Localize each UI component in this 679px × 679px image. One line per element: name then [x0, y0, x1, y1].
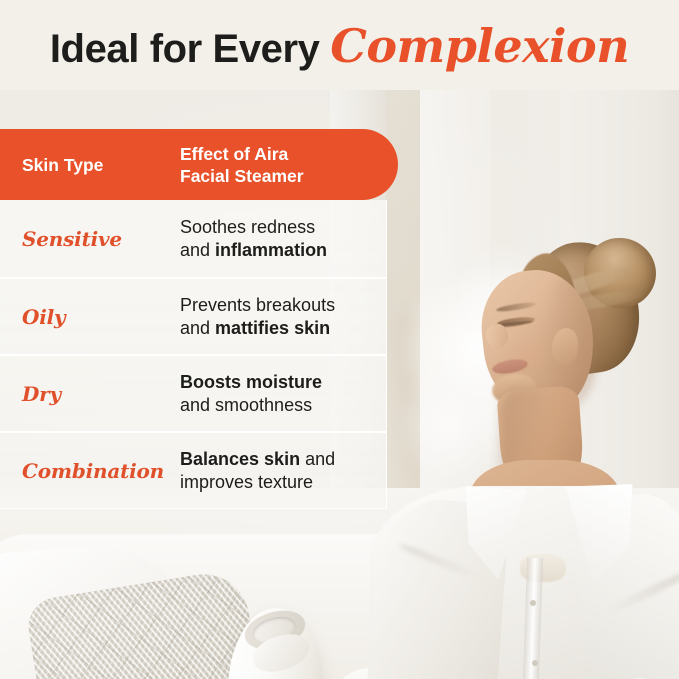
table-row: Dry Boosts moistureand smoothness	[0, 354, 386, 431]
effect-text-plain: Prevents breakouts	[180, 295, 335, 315]
table-row: Sensitive Soothes rednessand inflammatio…	[0, 200, 386, 277]
effect-text-plain: and	[180, 318, 215, 338]
effect-text-bold: Boosts moisture	[180, 372, 322, 392]
skin-type-table: Skin Type Effect of Aira Facial Steamer …	[0, 129, 386, 509]
effect-text-bold: mattifies skin	[215, 318, 330, 338]
cell-skin-type: Dry	[22, 382, 61, 406]
cell-effect: Boosts moistureand smoothness	[180, 371, 378, 417]
shirt-button	[532, 660, 538, 666]
column-header-skin-type: Skin Type	[22, 154, 103, 176]
cell-effect: Balances skin and improves texture	[180, 448, 378, 494]
effect-text-bold: inflammation	[215, 240, 327, 260]
column-header-effect-line2: Facial Steamer	[180, 166, 304, 186]
effect-text-bold: Balances skin	[180, 449, 300, 469]
table-row: Oily Prevents breakoutsand mattifies ski…	[0, 277, 386, 354]
table-header-row: Skin Type Effect of Aira Facial Steamer	[0, 129, 398, 200]
table-row: Combination Balances skin and improves t…	[0, 431, 386, 508]
cell-effect: Soothes rednessand inflammation	[180, 216, 378, 262]
page-title: Ideal for Every Complexion	[0, 24, 679, 71]
cell-skin-type: Sensitive	[22, 227, 122, 251]
shirt-button	[530, 600, 536, 606]
table-body: Sensitive Soothes rednessand inflammatio…	[0, 200, 387, 509]
headline-accent: Complexion	[330, 19, 629, 73]
column-header-effect-line1: Effect of Aira	[180, 144, 288, 164]
effect-text-plain: Soothes redness	[180, 217, 315, 237]
effect-text-plain: and smoothness	[180, 395, 312, 415]
cell-skin-type: Oily	[22, 305, 65, 329]
headline-lead: Ideal for Every	[50, 27, 330, 71]
cell-effect: Prevents breakoutsand mattifies skin	[180, 294, 378, 340]
column-header-effect: Effect of Aira Facial Steamer	[180, 143, 304, 187]
promo-graphic: Ideal for Every Complexion Skin Type Eff…	[0, 0, 679, 679]
cell-skin-type: Combination	[22, 459, 164, 483]
effect-text-plain: and	[180, 240, 215, 260]
